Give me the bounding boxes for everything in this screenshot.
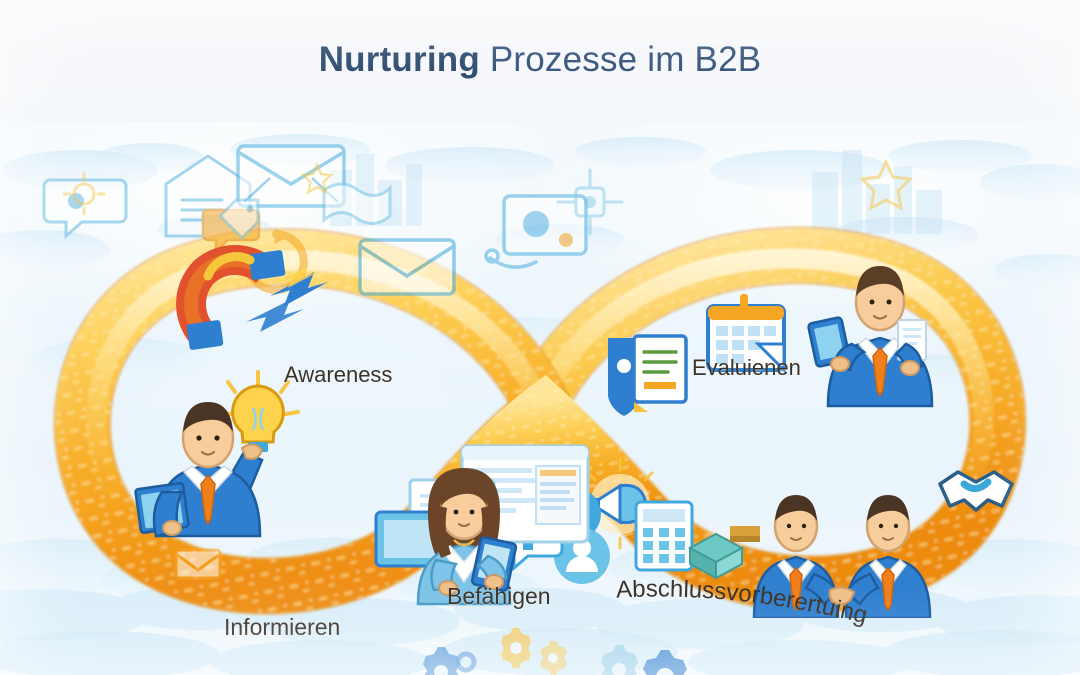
star-icon-2: [856, 156, 916, 216]
sun-icon: [62, 172, 106, 216]
illustration-scene: Awareness Evaluienen Informieren Befähig…: [0, 110, 1080, 675]
envelope-icon-2: [352, 222, 462, 312]
stage-label-informieren: Informieren: [224, 614, 340, 641]
stage-label-awareness: Awareness: [284, 362, 392, 388]
page-title-rest: Prozesse im B2B: [490, 40, 761, 79]
stage-label-abschluss: Abschlussvorberertuing: [600, 580, 980, 660]
magnet-icon: [146, 218, 336, 358]
stage-label-evaluieren: Evaluienen: [692, 355, 801, 381]
figure-man-lightbulb: [110, 368, 320, 538]
settings-network-icon: [550, 162, 630, 242]
star-icon: [300, 162, 334, 196]
envelope-small-icon: [170, 540, 230, 590]
infographic-canvas: Awareness Evaluienen Informieren Befähig…: [0, 0, 1080, 675]
page-title: Nurturing Prozesse im B2B: [0, 40, 1080, 80]
stage-label-befaehigen: Befähigen: [447, 583, 551, 610]
figure-man-tablet: [806, 238, 956, 408]
gear-icon-3: [486, 624, 576, 675]
page-title-bold: Nurturing: [319, 40, 490, 79]
stage-label-abschluss-text: Abschlussvorberertuing: [615, 580, 870, 629]
document-shield-icon: [600, 328, 696, 418]
svg-text:Abschlussvorberertuing: Abschlussvorberertuing: [615, 580, 870, 629]
